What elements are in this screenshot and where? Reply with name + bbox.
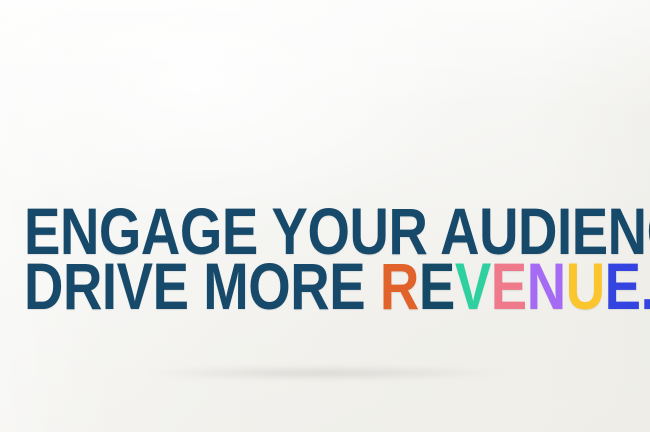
rainbow-letter-v: V [455, 251, 491, 324]
headline-line-2-prefix: DRIVE MORE [24, 251, 380, 324]
title-card-slide: ENGAGE YOUR AUDIENCE. DRIVE MORE REVENUE… [0, 0, 650, 432]
rainbow-letter-e-3: E [605, 251, 641, 324]
rainbow-word-revenue: REVENUE. [380, 251, 650, 324]
headline-line-2: DRIVE MORE REVENUE. [24, 259, 557, 316]
rainbow-letter-r: R [380, 251, 419, 324]
rainbow-letter-e-2: E [491, 251, 527, 324]
headline-drop-shadow [90, 365, 560, 381]
rainbow-letter-period: . [641, 251, 650, 324]
rainbow-letter-e-1: E [419, 251, 455, 324]
rainbow-letter-n: N [527, 251, 566, 324]
headline-block: ENGAGE YOUR AUDIENCE. DRIVE MORE REVENUE… [24, 204, 630, 313]
rainbow-letter-u: U [566, 251, 605, 324]
